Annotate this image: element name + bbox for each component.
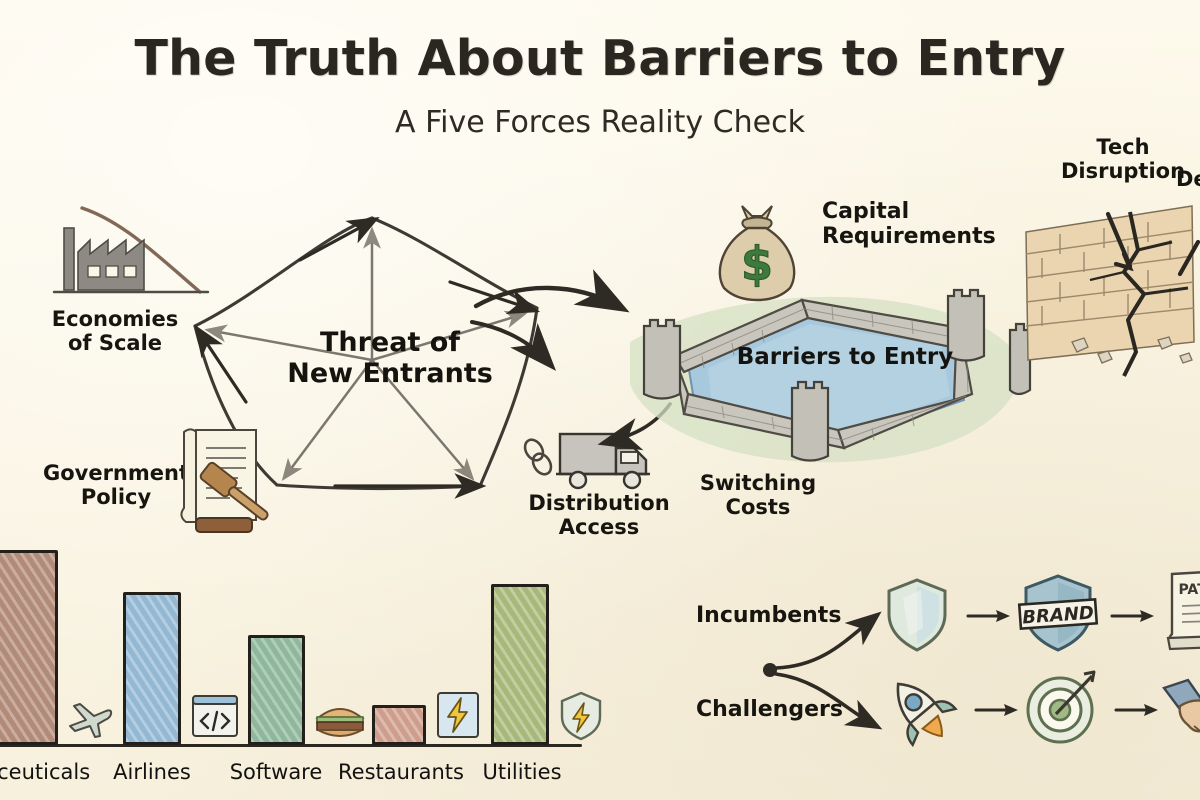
bar-label-airlines: Airlines [84,760,220,784]
burger-icon [313,698,367,742]
bar-software [248,635,305,745]
bar-utilities [491,584,549,745]
factory-declining-cost-curve-icon [52,200,212,305]
bar-label-restaurants: Restaurants [328,760,474,784]
wall-label-tech-disruption: Tech Disruption [1058,136,1188,183]
bar-label-software: Software [208,760,344,784]
gavel-document-icon [170,420,290,540]
node-label-government-policy: Government Policy [42,462,190,509]
page-subtitle: A Five Forces Reality Check [0,105,1200,140]
bar-pharmaceuticals [0,550,58,745]
flow-arrow-3 [974,700,1020,720]
flow-arrow-4 [1114,700,1160,720]
patent-document-icon: PATENT [1160,566,1200,656]
node-label-capital-requirements: Capital Requirements [822,200,1042,249]
incumbents-challengers-flow: Incumbents Challengers BRAND PATENT [690,548,1200,738]
node-label-economies-of-scale: Economies of Scale [40,308,190,355]
industry-barriers-bar-chart: maceuticals Airlines Software Restaurant… [0,540,600,800]
bar-label-utilities: Utilities [454,760,590,784]
target-bullseye-icon [1020,668,1100,748]
flow-arrow-2 [1110,606,1156,626]
bar-restaurants [372,705,426,745]
page-title: The Truth About Barriers to Entry [0,30,1200,87]
airplane-icon [66,696,114,740]
node-label-distribution-access: Distribution Access [525,492,673,539]
shield-icon [883,576,951,654]
cracked-brick-wall-icon [1012,190,1200,380]
castle-walls-moat-icon [612,272,1032,472]
rocket-icon [880,672,960,748]
wall-label-deregulation: De [1176,168,1200,192]
code-window-icon [190,692,240,740]
shield-bolt-icon [558,690,604,742]
flow-arrow-1 [966,606,1012,626]
lightning-bolt-icon [434,690,482,740]
brand-shield-icon: BRAND [1018,572,1098,654]
handshake-icon [1162,672,1200,742]
bar-airlines [123,592,181,745]
patent-badge-text: PATENT [1178,582,1200,598]
fortress-moat-label: Barriers to Entry [735,344,955,370]
node-label-switching-costs: Switching Costs [688,472,828,519]
